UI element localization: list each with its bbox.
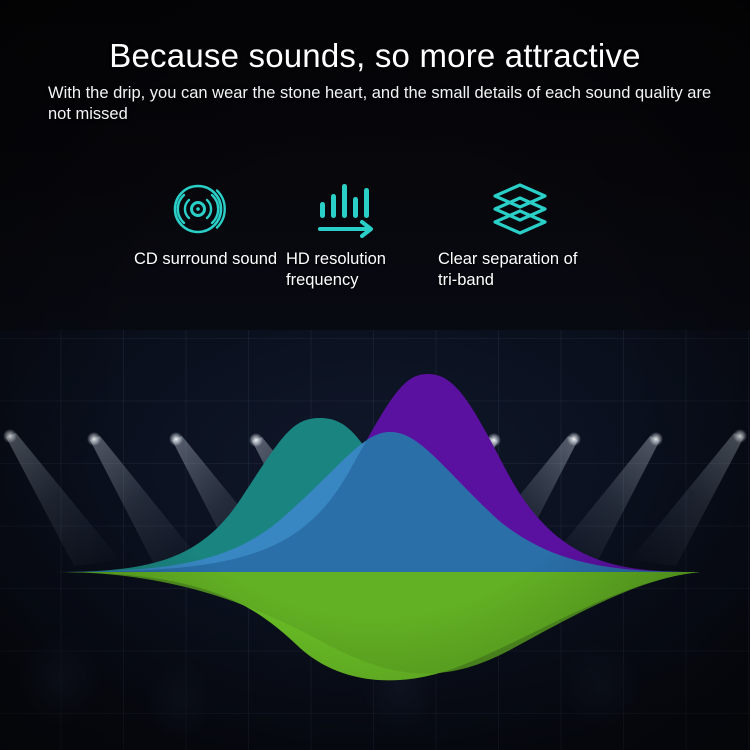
- equalizer-bars-arrow-icon: [314, 180, 376, 238]
- feature-item-cd-surround: CD surround sound: [134, 178, 280, 291]
- feature-list: CD surround sound: [134, 178, 634, 291]
- feature-item-tri-band: Clear separation of tri-band: [438, 178, 598, 291]
- wave-band-blue-purple-blend: [55, 374, 700, 572]
- page-title: Because sounds, so more attractive: [0, 38, 750, 74]
- feature-icon-slot: [286, 178, 432, 240]
- feature-label: HD resolution frequency: [286, 249, 432, 291]
- feature-icon-slot: [134, 178, 280, 240]
- feature-label: Clear separation of tri-band: [438, 249, 598, 291]
- feature-item-hd-resolution: HD resolution frequency: [286, 178, 432, 291]
- cd-disc-icon: [170, 180, 230, 238]
- feature-icon-slot: [438, 178, 598, 240]
- page-subtitle: With the drip, you can wear the stone he…: [16, 83, 734, 127]
- banner-header: Because sounds, so more attractive With …: [0, 38, 750, 126]
- product-feature-banner: Because sounds, so more attractive With …: [0, 0, 750, 750]
- stacked-layers-icon: [488, 180, 552, 238]
- feature-label: CD surround sound: [134, 249, 280, 270]
- wave-band-green-overlap: [55, 572, 700, 680]
